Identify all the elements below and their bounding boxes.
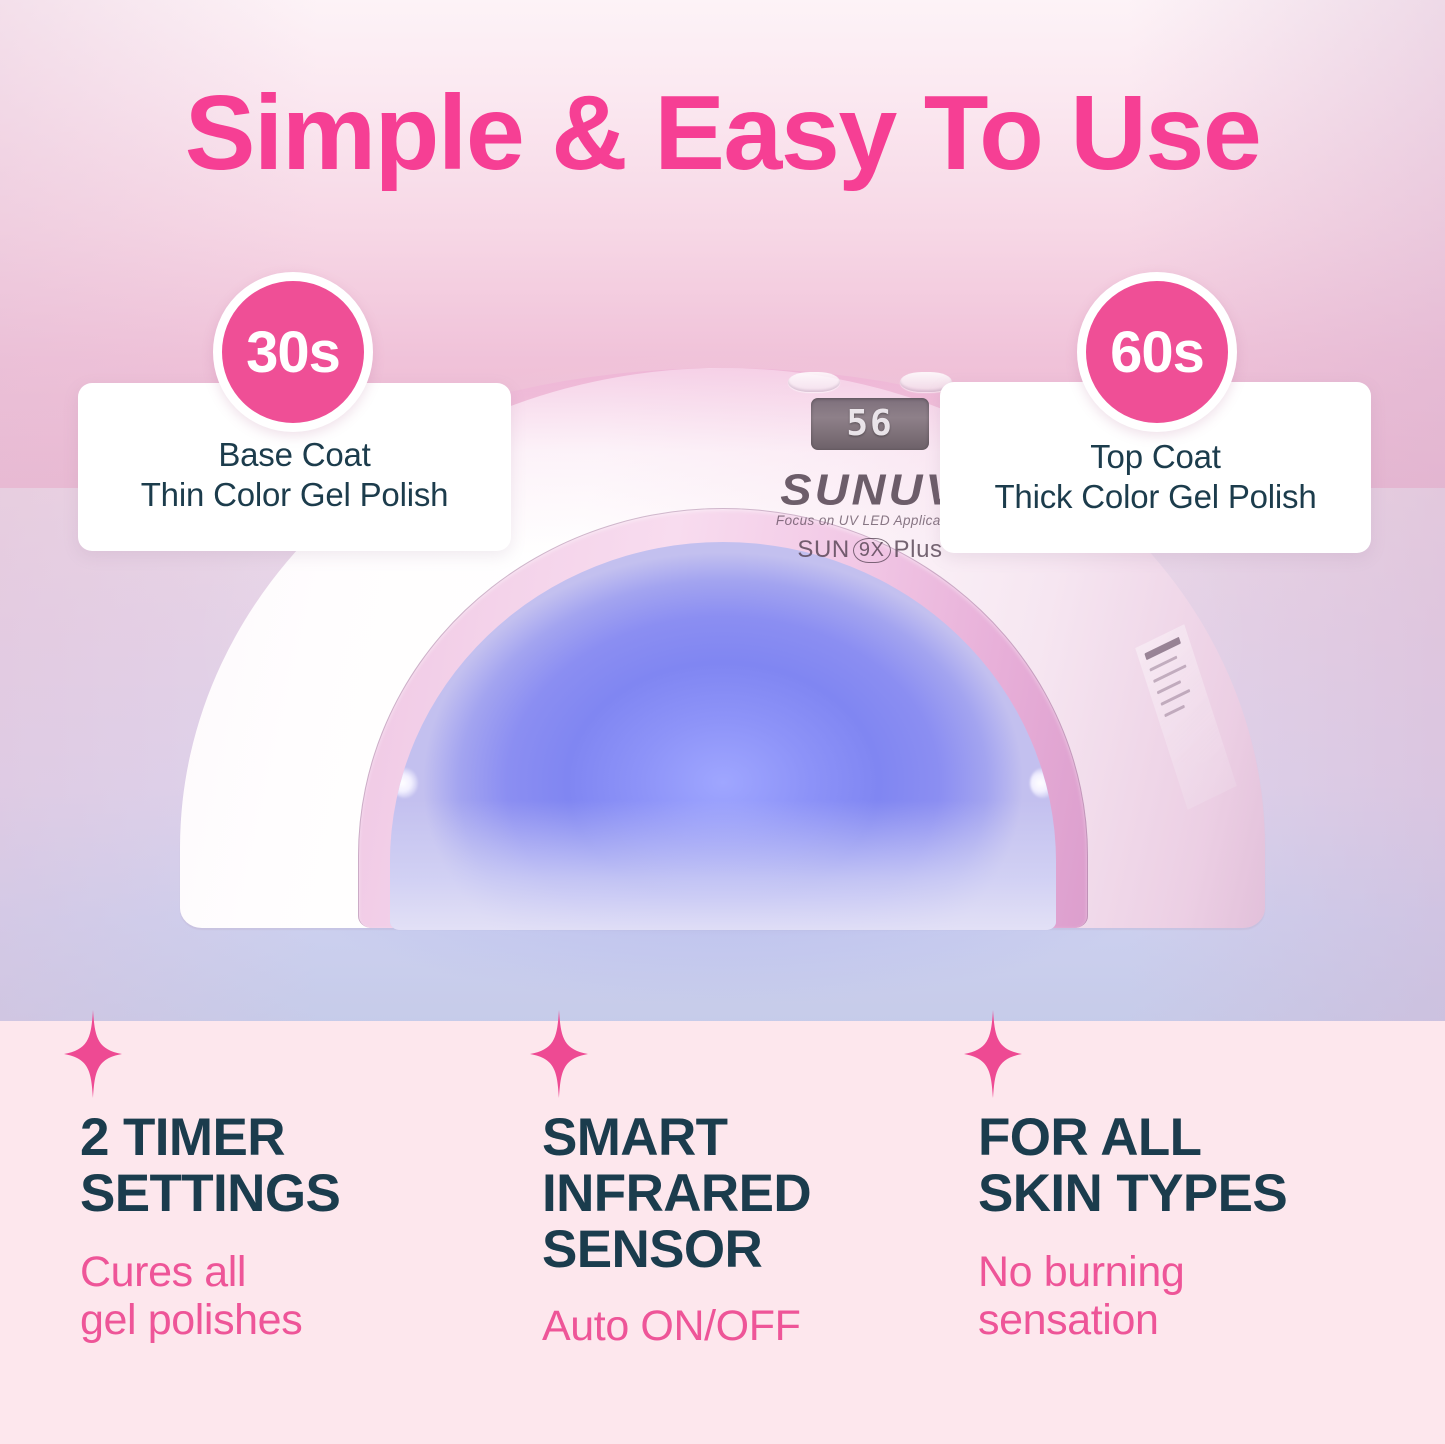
feature-subtitle: Auto ON/OFF — [542, 1302, 952, 1350]
model-suffix: Plus — [894, 536, 943, 564]
page-title: Simple & Easy To Use — [0, 78, 1445, 189]
led-light-right — [1030, 768, 1056, 798]
info-card-line-2: Thin Color Gel Polish — [78, 475, 511, 515]
info-card-line-2: Thick Color Gel Polish — [940, 477, 1371, 517]
feature-title: SMART INFRARED SENSOR — [542, 1110, 952, 1278]
timer-badge-60s: 60s — [1077, 272, 1237, 432]
feature-item-all-skin-types: FOR ALL SKIN TYPES No burning sensation — [952, 1010, 1445, 1444]
sparkle-icon — [530, 1010, 588, 1098]
infographic-canvas: Simple & Easy To Use 56 SUNUV Focus on U… — [0, 0, 1445, 1444]
feature-item-infrared-sensor: SMART INFRARED SENSOR Auto ON/OFF — [500, 1010, 952, 1444]
model-badge: 9X — [853, 538, 891, 563]
timer-badge-60s-label: 60s — [1110, 319, 1204, 386]
led-light-left — [392, 768, 418, 798]
device-lcd-display: 56 — [811, 398, 929, 450]
timer-badge-30s: 30s — [213, 272, 373, 432]
feature-item-timer-settings: 2 TIMER SETTINGS Cures all gel polishes — [0, 1010, 500, 1444]
feature-title: FOR ALL SKIN TYPES — [978, 1110, 1445, 1222]
info-card-line-1: Top Coat — [940, 437, 1371, 477]
feature-title: 2 TIMER SETTINGS — [80, 1110, 500, 1222]
lcd-timer-value: 56 — [846, 406, 893, 442]
cavity-floor-fade — [390, 800, 1056, 930]
device-button-left[interactable] — [788, 372, 840, 392]
feature-subtitle: No burning sensation — [978, 1248, 1445, 1344]
model-prefix: SUN — [797, 536, 849, 564]
sparkle-icon — [964, 1010, 1022, 1098]
sparkle-icon — [64, 1010, 122, 1098]
feature-subtitle: Cures all gel polishes — [80, 1248, 500, 1344]
feature-list: 2 TIMER SETTINGS Cures all gel polishes … — [0, 1010, 1445, 1444]
info-card-line-1: Base Coat — [78, 435, 511, 475]
timer-badge-30s-label: 30s — [246, 319, 340, 386]
